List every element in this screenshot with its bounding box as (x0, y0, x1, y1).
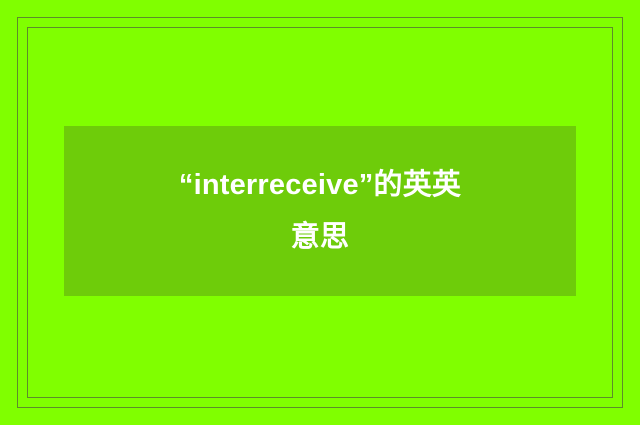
title-panel: “interreceive”的英英意思 (64, 126, 576, 296)
page-title: “interreceive”的英英意思 (175, 159, 465, 263)
slide-canvas: “interreceive”的英英意思 (0, 0, 640, 425)
